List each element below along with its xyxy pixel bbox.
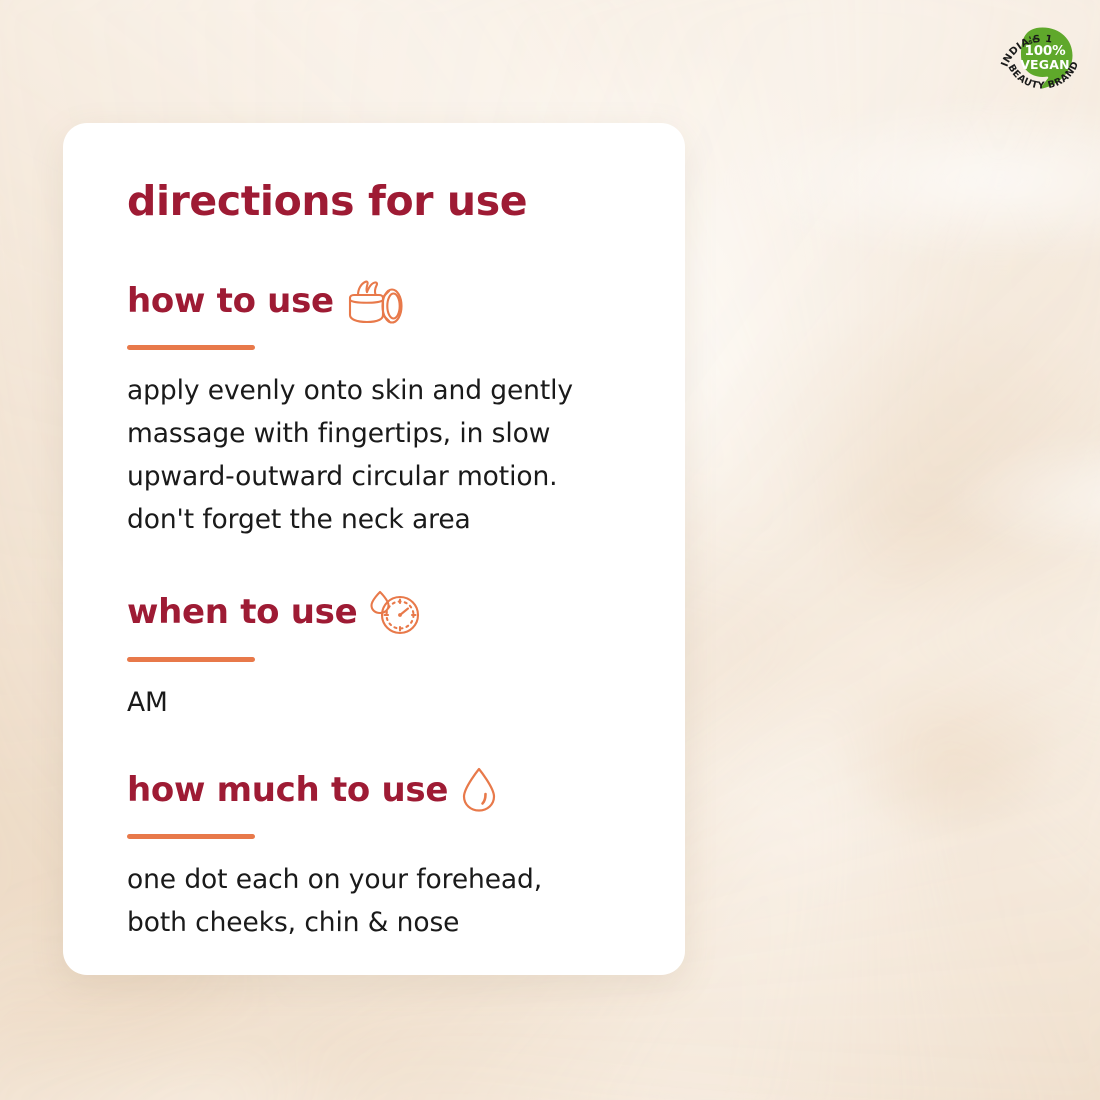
section-body-when-to-use: AM xyxy=(127,682,685,725)
directions-card: directions for use how to use xyxy=(63,123,685,975)
cream-jar-icon xyxy=(345,276,407,326)
section-how-to-use: how to use apply evenl xyxy=(127,276,685,542)
section-how-much-to-use: how much to use one dot each on your for… xyxy=(127,765,685,945)
stopwatch-droplet-icon xyxy=(368,586,424,638)
section-when-to-use: when to use xyxy=(127,586,685,725)
section-body-how-to-use: apply evenly onto skin and gently massag… xyxy=(127,370,685,542)
section-underline-when-to-use xyxy=(127,657,255,662)
badge-vegan-text: VEGAN xyxy=(1020,57,1070,72)
section-heading-how-to-use: how to use xyxy=(127,284,334,318)
spacer-1 xyxy=(127,542,685,586)
section-heading-row: when to use xyxy=(127,586,685,638)
droplet-icon xyxy=(459,765,499,815)
spacer-2 xyxy=(127,725,685,765)
section-heading-row: how much to use xyxy=(127,765,685,815)
section-body-how-much-to-use: one dot each on your forehead, both chee… xyxy=(127,859,685,945)
section-heading-how-much-to-use: how much to use xyxy=(127,773,448,807)
section-heading-when-to-use: when to use xyxy=(127,595,357,629)
vegan-badge: 100% VEGAN INDIA'S 1 st BEAUTY BRAND xyxy=(992,9,1092,109)
section-underline-how-to-use xyxy=(127,345,255,350)
section-underline-how-much-to-use xyxy=(127,834,255,839)
section-heading-row: how to use xyxy=(127,276,685,326)
page-title: directions for use xyxy=(127,181,685,222)
